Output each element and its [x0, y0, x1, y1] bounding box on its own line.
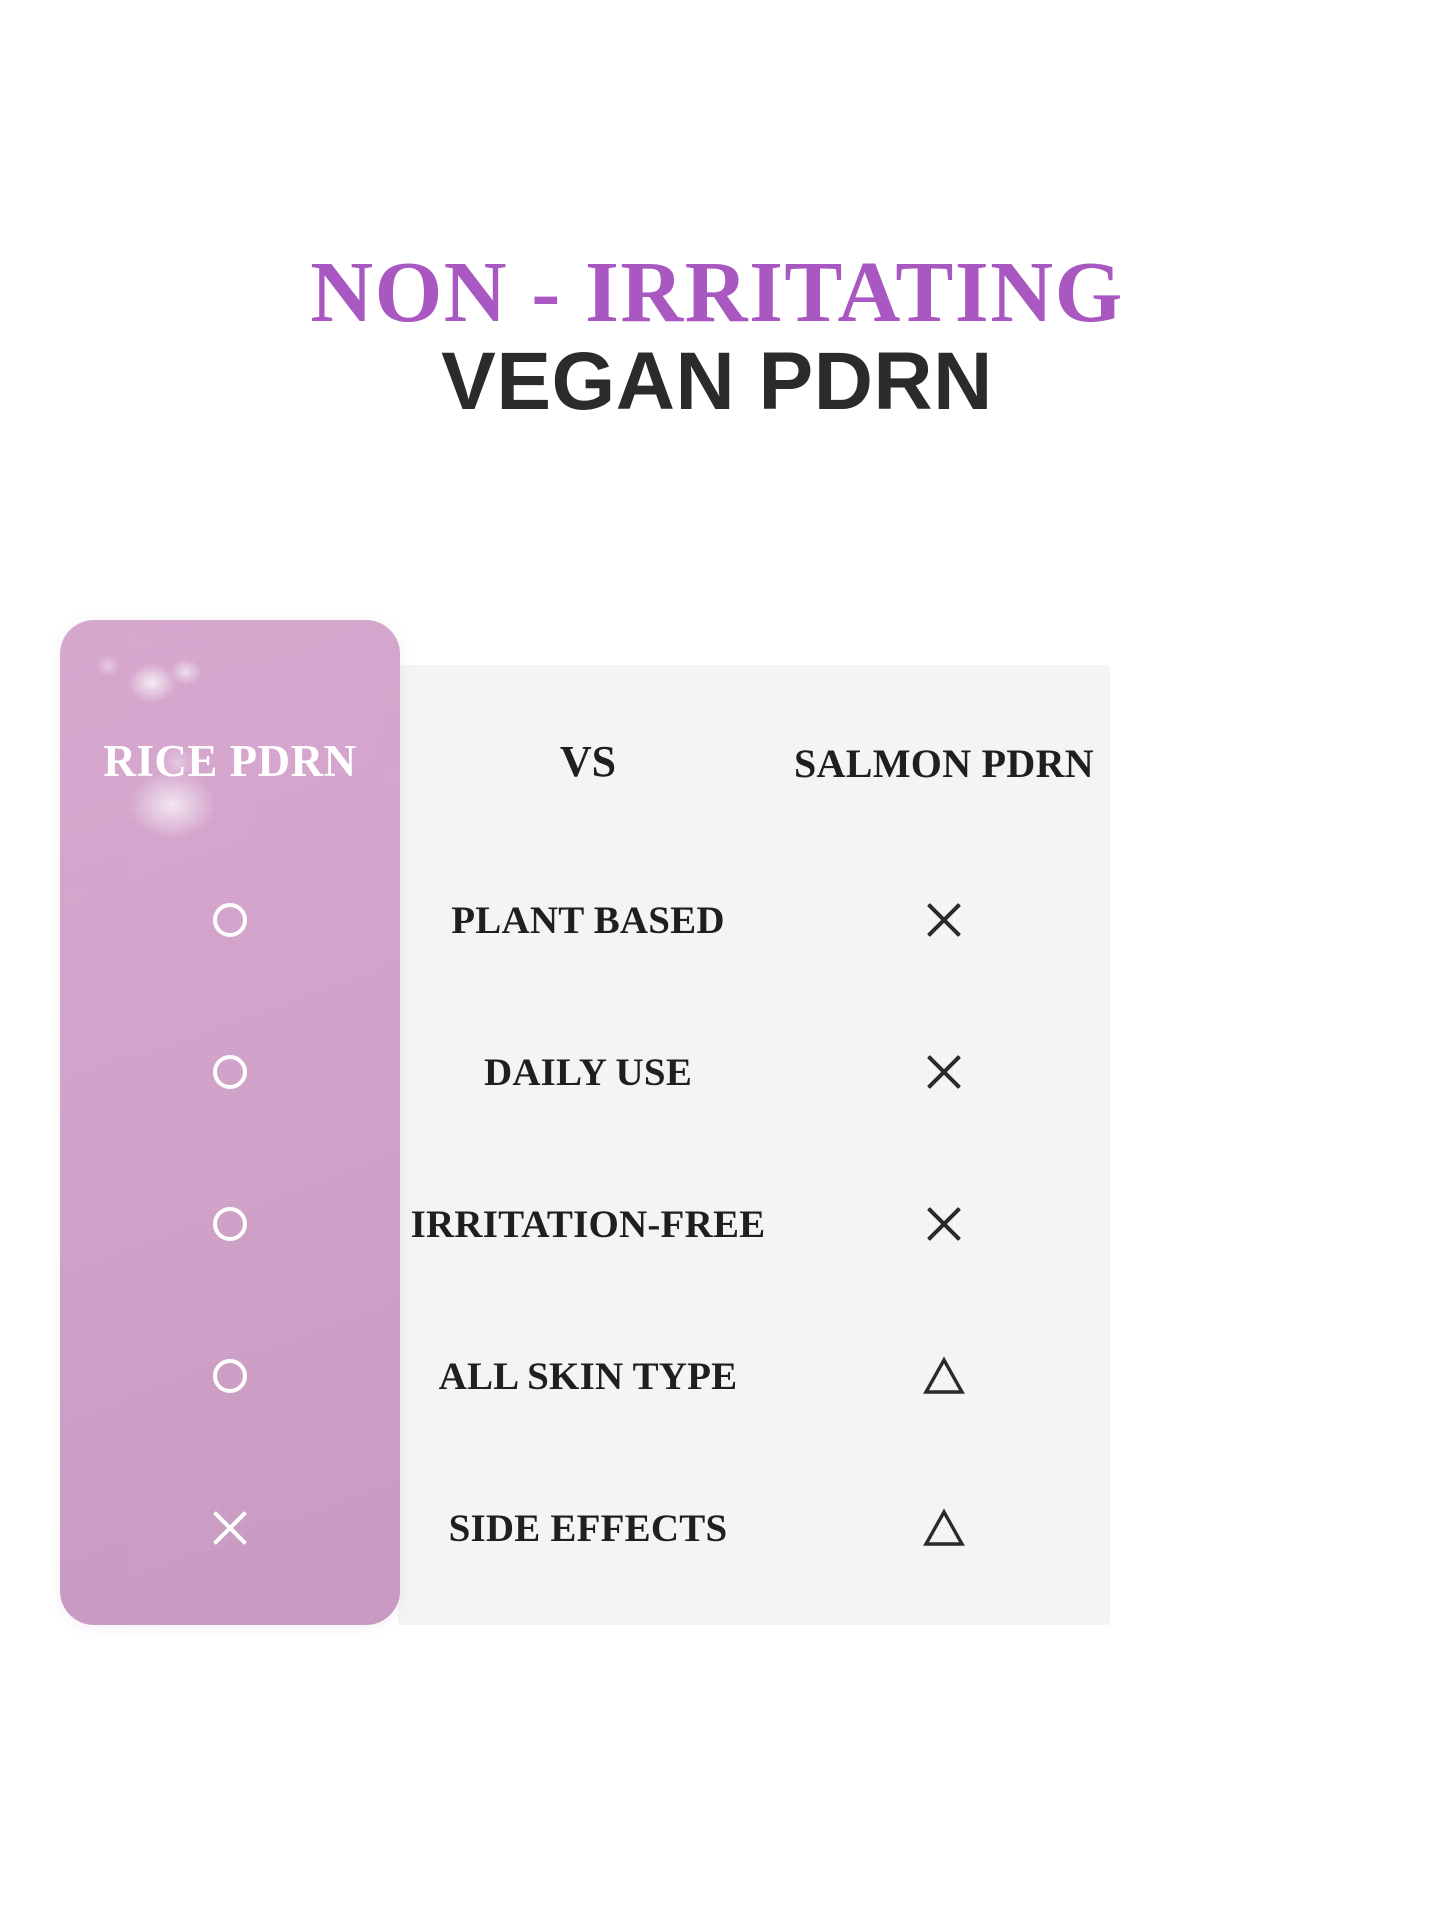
x-icon	[925, 901, 963, 939]
table-row: IRRITATION-FREE	[0, 1162, 1434, 1286]
rice-marker-cell	[60, 858, 400, 982]
feature-label: DAILY USE	[398, 1010, 778, 1134]
salmon-marker-cell	[778, 1466, 1110, 1590]
table-row: DAILY USE	[0, 1010, 1434, 1134]
column-header-vs: VS	[398, 736, 778, 787]
rice-marker-cell	[60, 1314, 400, 1438]
circle-icon	[213, 1055, 247, 1089]
table-row: ALL SKIN TYPE	[0, 1314, 1434, 1438]
feature-label: SIDE EFFECTS	[398, 1466, 778, 1590]
circle-icon	[213, 1207, 247, 1241]
x-icon	[211, 1509, 249, 1547]
x-icon	[925, 1053, 963, 1091]
rice-marker-cell	[60, 1010, 400, 1134]
circle-icon	[213, 1359, 247, 1393]
salmon-marker-cell	[778, 1162, 1110, 1286]
column-header-salmon-pdrn: SALMON PDRN	[778, 740, 1110, 787]
table-row: SIDE EFFECTS	[0, 1466, 1434, 1590]
comparison-table: RICE PDRN VS SALMON PDRN PLANT BASED DAI…	[0, 0, 1434, 1912]
column-header-rice-pdrn: RICE PDRN	[60, 735, 400, 787]
triangle-icon	[922, 1508, 966, 1548]
rice-marker-cell	[60, 1162, 400, 1286]
salmon-marker-cell	[778, 1010, 1110, 1134]
triangle-icon	[922, 1356, 966, 1396]
feature-label: ALL SKIN TYPE	[398, 1314, 778, 1438]
table-row: PLANT BASED	[0, 858, 1434, 982]
feature-label: IRRITATION-FREE	[398, 1162, 778, 1286]
rice-marker-cell	[60, 1466, 400, 1590]
x-icon	[925, 1205, 963, 1243]
circle-icon	[213, 903, 247, 937]
feature-label: PLANT BASED	[398, 858, 778, 982]
salmon-marker-cell	[778, 1314, 1110, 1438]
salmon-marker-cell	[778, 858, 1110, 982]
